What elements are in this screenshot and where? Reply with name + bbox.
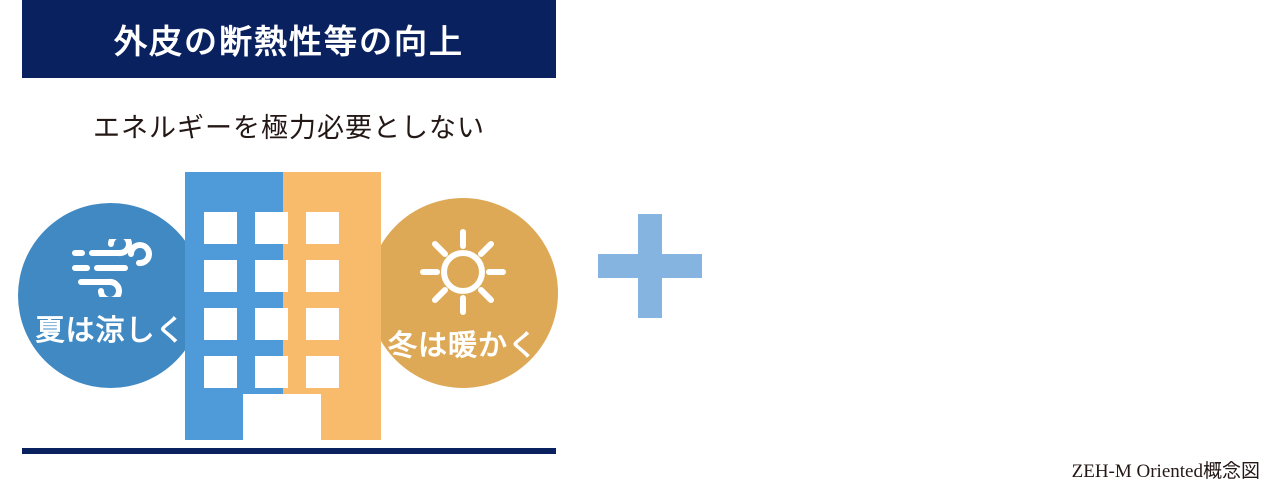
building-window (306, 260, 339, 292)
diagram-canvas: 外皮の断熱性等の向上 エネルギーを極力必要としない 夏は涼しく (0, 0, 1280, 483)
badge-winter-warm: 冬は暖かく (368, 198, 558, 388)
building-window (306, 356, 339, 388)
figure-caption: ZEH-M Oriented概念図 (960, 456, 1260, 483)
badge-summer-cool-label: 夏は涼しく (35, 317, 185, 346)
building-window (204, 308, 237, 340)
badge-winter-warm-label: 冬は暖かく (388, 332, 538, 361)
building-window (306, 212, 339, 244)
building-entrance (243, 394, 321, 440)
building-window (204, 356, 237, 388)
left-baseline (22, 448, 556, 454)
building-window (306, 308, 339, 340)
sun-icon (415, 226, 511, 318)
plus-vertical-bar (638, 214, 662, 318)
building-window (255, 260, 288, 292)
left-header-title: 外皮の断熱性等の向上 (114, 15, 464, 63)
left-header-banner: 外皮の断熱性等の向上 (22, 0, 556, 78)
building-window (204, 212, 237, 244)
building-window (255, 308, 288, 340)
building-illustration (185, 172, 381, 440)
building-window (204, 260, 237, 292)
right-panel: 高性能設備の導入 エネルギーを上手に使う 暖房 冷房 換気 照明 給湯 削減 (660, 0, 1280, 483)
wind-icon (65, 239, 157, 297)
left-subtitle: エネルギーを極力必要としない (22, 106, 556, 145)
building-window (255, 356, 288, 388)
left-panel: 外皮の断熱性等の向上 エネルギーを極力必要としない 夏は涼しく (0, 0, 620, 483)
building-window (255, 212, 288, 244)
badge-summer-cool: 夏は涼しく (18, 203, 203, 388)
